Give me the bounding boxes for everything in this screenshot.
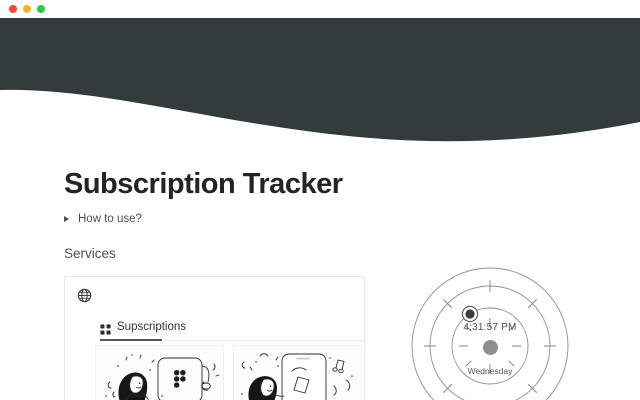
clock-center-dot — [483, 340, 498, 355]
clock-orbit-marker — [462, 306, 477, 321]
tabbar-divider — [162, 340, 365, 341]
clock-time-readout: 4:31:57 PM — [404, 322, 576, 333]
clock-weekday-label: Wednesday — [404, 366, 576, 376]
traffic-light-buttons — [9, 5, 45, 13]
embed-tabbar: Supscriptions — [65, 321, 365, 340]
close-window-button[interactable] — [9, 5, 17, 13]
page-cover-wave-banner — [0, 18, 640, 143]
minimize-window-button[interactable] — [23, 5, 31, 13]
radial-clock-widget[interactable]: 4:31:57 PM Wednesday — [404, 266, 576, 400]
how-to-use-toggle-label: How to use? — [78, 213, 142, 225]
tab-active-underline — [100, 339, 162, 341]
tab-supscriptions[interactable]: Supscriptions — [100, 321, 186, 338]
globe-icon — [77, 288, 92, 303]
grid-2x2-icon — [100, 322, 111, 333]
music-subscription-illustration[interactable] — [233, 345, 362, 400]
section-heading-services: Services — [64, 246, 116, 261]
triangle-right-icon[interactable] — [64, 216, 69, 222]
maximize-window-button[interactable] — [37, 5, 45, 13]
window-titlebar — [0, 0, 640, 18]
tab-supscriptions-label: Supscriptions — [117, 321, 186, 333]
app-window: Subscription Tracker How to use? Service… — [0, 0, 640, 400]
services-embed-card[interactable]: Supscriptions — [64, 276, 365, 400]
how-to-use-toggle[interactable]: How to use? — [64, 213, 142, 225]
figma-subscription-illustration[interactable] — [95, 345, 224, 400]
page-title: Subscription Tracker — [64, 169, 343, 201]
subscription-thumbnail-list — [95, 345, 362, 400]
